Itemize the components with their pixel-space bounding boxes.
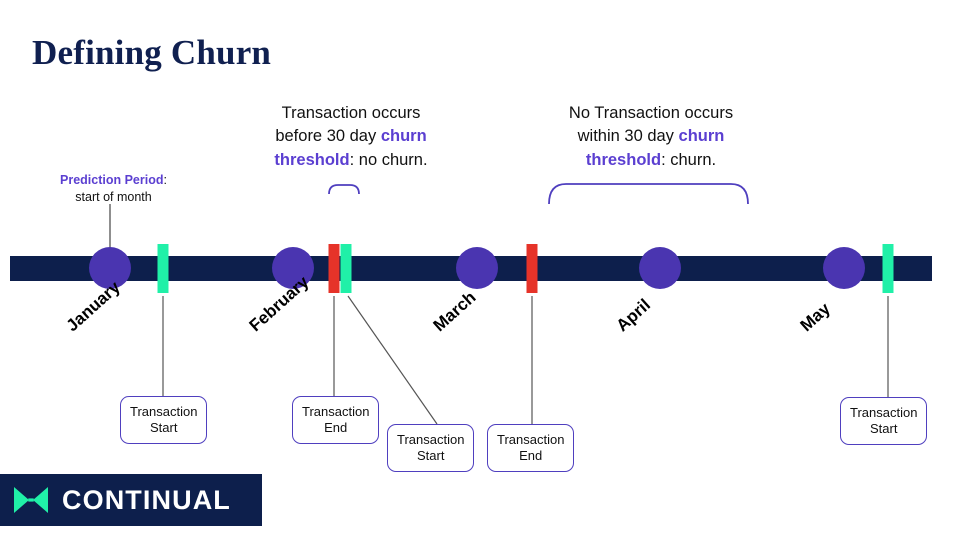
callout-line-1: Transaction	[850, 405, 917, 420]
timeline-diagram	[0, 0, 960, 540]
callout-line-1: Transaction	[397, 432, 464, 447]
callout-line-2: Start	[870, 421, 897, 436]
callout-line-1: Transaction	[302, 404, 369, 419]
callout-line-2: End	[519, 448, 542, 463]
callout-line-1: Transaction	[130, 404, 197, 419]
month-marker-march	[456, 247, 498, 289]
callout-transaction-start-may: TransactionStart	[840, 397, 927, 445]
transaction-start-3	[883, 244, 894, 293]
slide-canvas: Defining Churn Transaction occurs before…	[0, 0, 960, 540]
callout-line-2: End	[324, 420, 347, 435]
logo-wordmark: CONTINUAL	[62, 485, 231, 516]
callout-line-2: Start	[417, 448, 444, 463]
transaction-end-2	[527, 244, 538, 293]
callout-transaction-end-february: TransactionEnd	[292, 396, 379, 444]
callout-transaction-start-january: TransactionStart	[120, 396, 207, 444]
bracket-churn	[549, 184, 748, 204]
callout-transaction-start-february: TransactionStart	[387, 424, 474, 472]
transaction-end-1	[329, 244, 340, 293]
callout-line-2: Start	[150, 420, 177, 435]
bracket-no-churn	[329, 185, 359, 194]
callout-line-1: Transaction	[497, 432, 564, 447]
month-marker-april	[639, 247, 681, 289]
transaction-start-2	[341, 244, 352, 293]
callout-transaction-end-march: TransactionEnd	[487, 424, 574, 472]
bowtie-icon	[12, 485, 50, 515]
continual-logo: CONTINUAL	[0, 474, 262, 526]
month-marker-may	[823, 247, 865, 289]
transaction-start-1	[158, 244, 169, 293]
